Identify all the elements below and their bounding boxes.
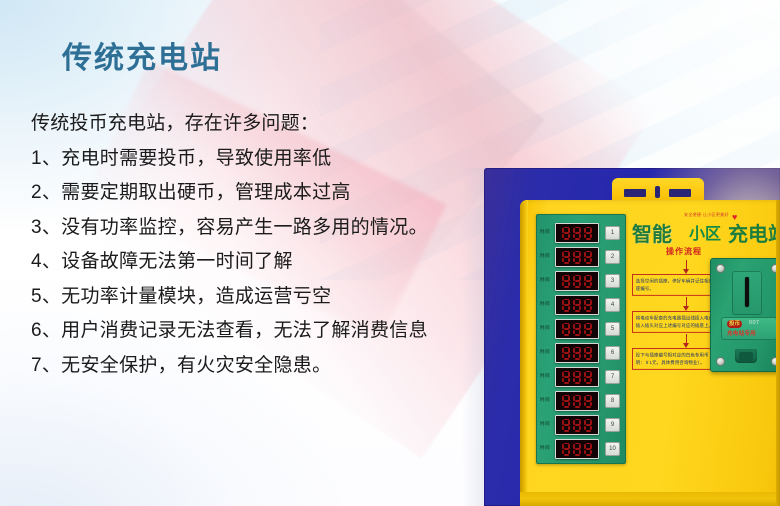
led-digit xyxy=(562,299,571,312)
socket-button-3[interactable]: 3 xyxy=(605,274,620,288)
socket-button-4[interactable]: 4 xyxy=(605,298,620,312)
coin-slot-plate[interactable] xyxy=(732,271,762,315)
coin-badge: 投币 xyxy=(727,320,742,328)
led-digit xyxy=(584,371,593,384)
station-left-shadow xyxy=(462,168,486,506)
led-digit xyxy=(562,251,571,264)
led-row-label: 时间 xyxy=(540,444,550,450)
led-display xyxy=(555,415,599,435)
led-digit xyxy=(573,251,582,264)
vent-slot-right xyxy=(669,189,691,197)
led-digit xyxy=(584,227,593,240)
coin-module-number: 007 xyxy=(749,320,759,326)
led-digit xyxy=(584,275,593,288)
led-digit xyxy=(573,299,582,312)
brand-text-primary: 智能 xyxy=(632,218,672,247)
led-digit xyxy=(562,395,571,408)
socket-button-7[interactable]: 7 xyxy=(605,370,620,384)
led-digit xyxy=(573,371,582,384)
led-row: 时间6 xyxy=(537,341,625,363)
led-display xyxy=(555,391,599,411)
flow-chart-title: 操作流程 xyxy=(666,246,702,257)
socket-button-10[interactable]: 10 xyxy=(605,442,620,456)
led-digit xyxy=(573,347,582,360)
led-row-label: 时间 xyxy=(540,228,550,234)
problem-item-5: 5、无功率计量模块，造成运营亏空 xyxy=(31,280,501,315)
page-title: 传统充电站 xyxy=(62,33,222,77)
screw-icon-top-left xyxy=(716,264,725,273)
led-digit xyxy=(584,323,593,336)
led-display xyxy=(555,319,599,339)
led-digit xyxy=(584,299,593,312)
led-digit xyxy=(573,443,582,456)
led-digit xyxy=(562,323,571,336)
problem-list: 传统投币充电站，存在许多问题： 1、充电时需要投币，导致使用率低 2、需要定期取… xyxy=(31,107,501,383)
brand-text-secondary: 小区 xyxy=(689,220,721,244)
led-display xyxy=(555,223,599,243)
vent-slot-left xyxy=(624,189,646,197)
led-display xyxy=(555,367,599,387)
station-backboard: 时间1时间2时间3时间4时间5时间6时间7时间8时间9时间10 安全便捷·让小区… xyxy=(484,168,780,506)
led-display xyxy=(555,295,599,315)
led-status-board: 时间1时间2时间3时间4时间5时间6时间7时间8时间9时间10 xyxy=(536,214,626,464)
led-display xyxy=(555,247,599,267)
problem-item-3: 3、没有功率监控，容易产生一路多用的情况。 xyxy=(31,211,501,246)
led-digit xyxy=(562,419,571,432)
led-digit xyxy=(562,347,571,360)
brand-text-tertiary: 充电站 xyxy=(728,218,780,247)
led-digit xyxy=(562,371,571,384)
led-row: 时间2 xyxy=(537,245,625,267)
led-row-label: 时间 xyxy=(540,252,550,258)
led-row: 时间3 xyxy=(537,269,625,291)
problem-item-6: 6、用户消费记录无法查看，无法了解消费信息 xyxy=(31,314,501,349)
coin-acceptor-module[interactable]: 投币 007 充电站专用 xyxy=(710,258,780,372)
coin-return-icon[interactable] xyxy=(735,349,757,363)
led-row-label: 时间 xyxy=(540,276,550,282)
socket-button-9[interactable]: 9 xyxy=(605,418,620,432)
socket-button-8[interactable]: 8 xyxy=(605,394,620,408)
led-digit xyxy=(562,227,571,240)
led-display xyxy=(555,343,599,363)
problem-item-1: 1、充电时需要投币，导致使用率低 xyxy=(31,142,501,177)
led-digit xyxy=(584,395,593,408)
station-brand-lockup: 安全便捷·让小区更美好 智能 小区 ♥ 充电站 xyxy=(632,216,780,246)
led-digit xyxy=(584,347,593,360)
led-row: 时间4 xyxy=(537,293,625,315)
led-row: 时间5 xyxy=(537,317,625,339)
led-row-label: 时间 xyxy=(540,420,550,426)
led-display xyxy=(555,439,599,459)
led-display xyxy=(555,271,599,291)
led-digit xyxy=(573,227,582,240)
coin-slot-icon[interactable] xyxy=(745,277,749,307)
led-digit xyxy=(584,419,593,432)
led-row-label: 时间 xyxy=(540,348,550,354)
vent-slot-center xyxy=(655,186,660,198)
socket-button-5[interactable]: 5 xyxy=(605,322,620,336)
slide-canvas: 传统充电站 传统投币充电站，存在许多问题： 1、充电时需要投币，导致使用率低 2… xyxy=(0,0,780,506)
led-row-label: 时间 xyxy=(540,396,550,402)
intro-line: 传统投币充电站，存在许多问题： xyxy=(31,107,501,142)
brand-superscript: 安全便捷·让小区更美好 xyxy=(684,212,729,217)
station-cabinet-left-edge xyxy=(520,200,528,506)
problem-item-2: 2、需要定期取出硬币，管理成本过高 xyxy=(31,176,501,211)
problem-item-4: 4、设备故障无法第一时间了解 xyxy=(31,245,501,280)
led-row-label: 时间 xyxy=(540,300,550,306)
led-digit xyxy=(584,251,593,264)
socket-button-2[interactable]: 2 xyxy=(605,250,620,264)
led-digit xyxy=(562,275,571,288)
socket-button-6[interactable]: 6 xyxy=(605,346,620,360)
led-row-label: 时间 xyxy=(540,372,550,378)
led-row: 时间1 xyxy=(537,221,625,243)
led-digit xyxy=(573,275,582,288)
coin-module-label: 投币 007 充电站专用 xyxy=(721,317,777,340)
led-digit xyxy=(573,419,582,432)
led-row-label: 时间 xyxy=(540,324,550,330)
socket-button-1[interactable]: 1 xyxy=(605,226,620,240)
led-row: 时间7 xyxy=(537,365,625,387)
led-row: 时间9 xyxy=(537,413,625,435)
charging-station-image: 时间1时间2时间3时间4时间5时间6时间7时间8时间9时间10 安全便捷·让小区… xyxy=(462,168,780,506)
led-digit xyxy=(584,443,593,456)
led-row: 时间8 xyxy=(537,389,625,411)
led-digit xyxy=(573,395,582,408)
problem-item-7: 7、无安全保护，有火灾安全隐患。 xyxy=(31,349,501,384)
led-digit xyxy=(573,323,582,336)
led-digit xyxy=(562,443,571,456)
station-cabinet-bottom-lip xyxy=(520,492,780,506)
coin-module-text: 充电站专用 xyxy=(727,329,756,337)
led-row: 时间10 xyxy=(537,437,625,459)
station-right-edge xyxy=(776,200,780,506)
screw-icon-bottom-left xyxy=(716,357,725,366)
